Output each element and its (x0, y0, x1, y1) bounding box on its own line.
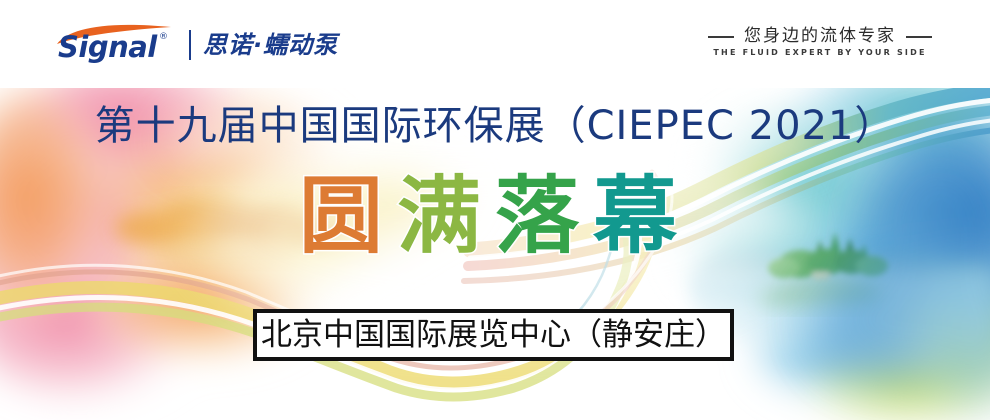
registered-trademark-icon: ® (159, 32, 168, 42)
tagline-rule-left (708, 36, 734, 38)
signal-logo-mark: Signal ® (55, 24, 173, 66)
logo-chinese-name: 思诺·蠕动泵 (203, 33, 338, 57)
tagline-rule-right (906, 36, 932, 38)
logo-wordmark: Signal (58, 33, 157, 62)
exhibition-banner: Signal ® 思诺·蠕动泵 您身边的流体专家 THE FLUID EXPER… (0, 0, 990, 420)
tagline-chinese: 您身边的流体专家 (744, 28, 896, 45)
company-tagline: 您身边的流体专家 THE FLUID EXPERT BY YOUR SIDE (708, 28, 932, 57)
header-bar: Signal ® 思诺·蠕动泵 您身边的流体专家 THE FLUID EXPER… (0, 0, 990, 88)
company-logo[interactable]: Signal ® 思诺·蠕动泵 (55, 24, 338, 66)
tagline-chinese-row: 您身边的流体专家 (708, 28, 932, 45)
tagline-english: THE FLUID EXPERT BY YOUR SIDE (708, 49, 932, 57)
logo-divider (189, 30, 191, 60)
